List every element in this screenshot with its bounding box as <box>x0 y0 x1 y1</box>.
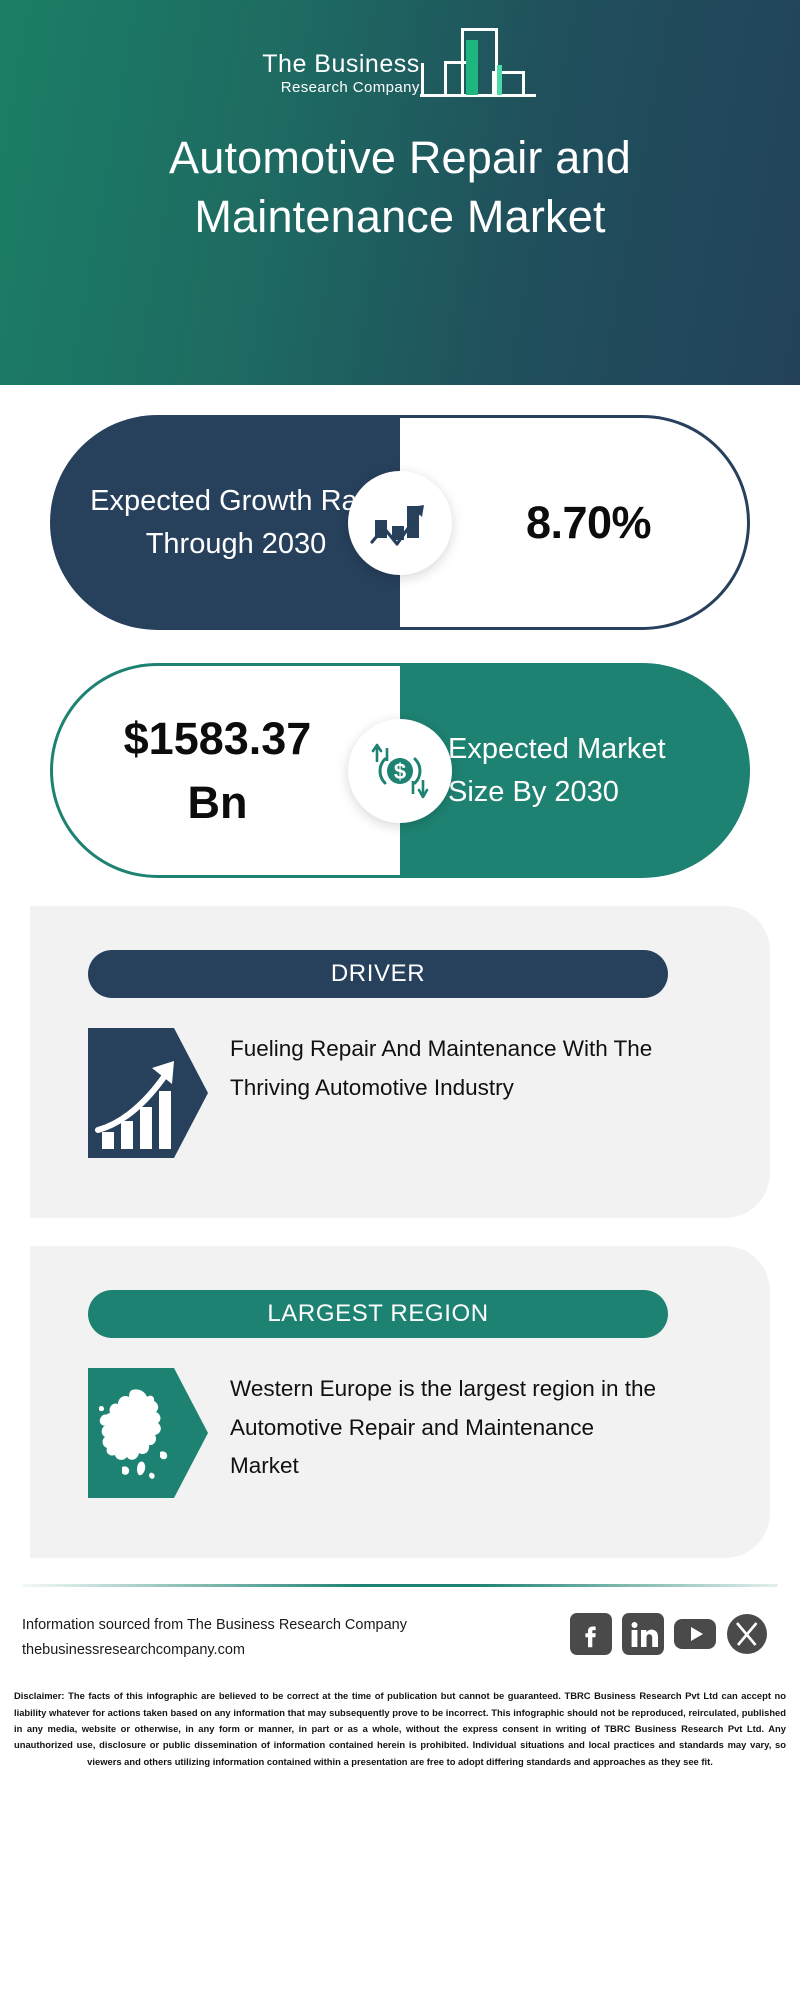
footer-website-link[interactable]: thebusinessresearchcompany.com <box>22 1638 407 1663</box>
stat-card-market-size: $1583.37 Bn Expected Market Size By 2030… <box>50 663 750 878</box>
stat-value: $1583.37 Bn <box>112 707 342 835</box>
europe-map-icon <box>88 1368 208 1498</box>
disclaimer-text: Disclaimer: The facts of this infographi… <box>0 1662 800 1770</box>
stat-label: Expected Growth Rate Through 2030 <box>90 480 382 564</box>
youtube-icon[interactable] <box>674 1613 716 1655</box>
page-title: Automotive Repair and Maintenance Market <box>0 128 800 247</box>
logo-line-2: Research Company <box>281 78 420 98</box>
linkedin-icon[interactable] <box>622 1613 664 1655</box>
page-footer: Information sourced from The Business Re… <box>0 1587 800 1662</box>
insight-pill-label: LARGEST REGION <box>267 1300 488 1328</box>
dollar-refresh-icon: $ <box>348 719 452 823</box>
x-twitter-icon[interactable] <box>726 1613 768 1655</box>
facebook-icon[interactable] <box>570 1613 612 1655</box>
stat-cards: Expected Growth Rate Through 2030 8.70% … <box>0 385 800 878</box>
footer-source-line: Information sourced from The Business Re… <box>22 1613 407 1638</box>
stat-card-growth-rate: Expected Growth Rate Through 2030 8.70% <box>50 415 750 630</box>
stat-label-panel: Expected Market Size By 2030 <box>400 663 750 878</box>
company-logo: The Business Research Company <box>0 20 800 105</box>
insight-section-driver: DRIVER Fueling Repair And Maintenance Wi… <box>30 906 770 1218</box>
insight-pill-label: DRIVER <box>331 960 425 988</box>
growth-chart-arrow-icon <box>348 471 452 575</box>
insight-pill-driver: DRIVER <box>88 950 668 998</box>
svg-text:$: $ <box>394 759 406 784</box>
growth-bar-chart-icon <box>88 1028 208 1158</box>
insight-text-largest-region: Western Europe is the largest region in … <box>230 1368 660 1486</box>
insight-pill-largest-region: LARGEST REGION <box>88 1290 668 1338</box>
logo-line-1: The Business <box>262 51 419 77</box>
stat-value-panel: 8.70% <box>400 415 750 630</box>
footer-source: Information sourced from The Business Re… <box>22 1613 407 1662</box>
bar-chart-logo-mark <box>418 20 538 105</box>
insight-section-largest-region: LARGEST REGION Western Europ <box>30 1246 770 1558</box>
footer-divider <box>0 1558 800 1587</box>
stat-value: 8.70% <box>496 497 651 549</box>
insight-text-driver: Fueling Repair And Maintenance With The … <box>230 1028 660 1107</box>
stat-label: Expected Market Size By 2030 <box>440 728 722 812</box>
page-header: The Business Research Company <box>0 0 800 385</box>
logo-text: The Business Research Company <box>262 51 419 105</box>
social-links <box>570 1613 778 1655</box>
